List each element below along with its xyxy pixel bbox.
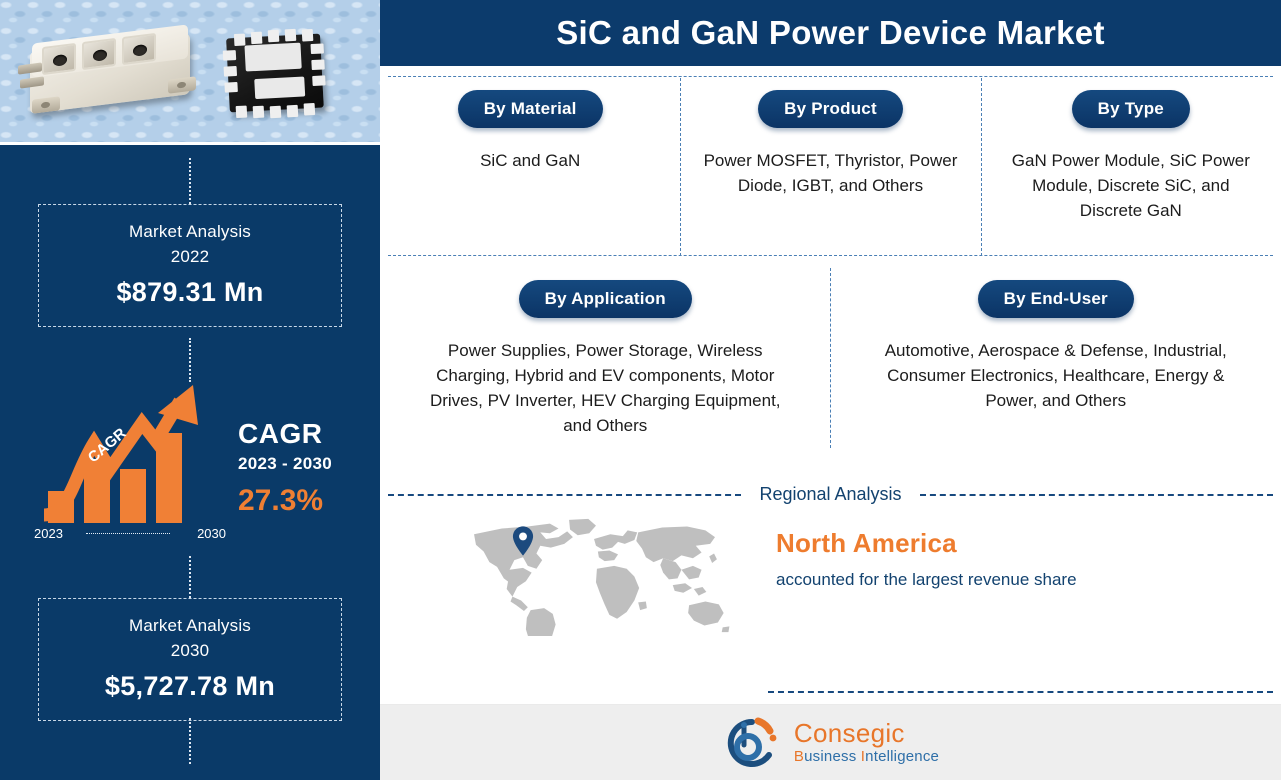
segment-pill-by-application[interactable]: By Application bbox=[519, 280, 692, 318]
stat-label-line1: Market Analysis bbox=[39, 219, 341, 244]
logo-tagline: Business Intelligence bbox=[794, 749, 939, 765]
footer-brand-bar: Consegic Business Intelligence bbox=[380, 704, 1281, 780]
top-region-name: North America bbox=[776, 528, 1077, 559]
cagr-percent: 27.3% bbox=[238, 484, 332, 518]
segment-pill-by-end-user[interactable]: By End-User bbox=[978, 280, 1134, 318]
world-map-svg bbox=[450, 516, 740, 636]
logo-company-name: Consegic bbox=[794, 720, 939, 747]
map-pin-icon bbox=[512, 526, 534, 556]
regional-analysis-section: Regional Analysis bbox=[380, 484, 1281, 704]
divider-line-right bbox=[920, 494, 1273, 496]
logo-text-group: Consegic Business Intelligence bbox=[794, 720, 939, 765]
segment-desc-by-type: GaN Power Module, SiC Power Module, Disc… bbox=[1000, 148, 1261, 223]
connector-dots-bottom bbox=[189, 718, 191, 764]
left-sidebar: Market Analysis 2022 $879.31 Mn CAGR bbox=[0, 0, 380, 780]
infographic-page: Market Analysis 2022 $879.31 Mn CAGR bbox=[0, 0, 1281, 780]
segment-row-2: By Application Power Supplies, Power Sto… bbox=[380, 256, 1281, 448]
top-region-statement: accounted for the largest revenue share bbox=[776, 568, 1077, 592]
page-title: SiC and GaN Power Device Market bbox=[380, 0, 1281, 66]
stat-value: $879.31 Mn bbox=[39, 277, 341, 308]
divider-line-left bbox=[388, 494, 741, 496]
product-photo bbox=[0, 0, 380, 145]
qfn-chip-image bbox=[218, 27, 332, 121]
logo-tag-b: B bbox=[794, 748, 804, 765]
cagr-chart-svg: CAGR bbox=[30, 383, 230, 533]
stat-label-line2: 2022 bbox=[39, 244, 341, 269]
segmentation-area: By Material SiC and GaN By Product Power… bbox=[380, 66, 1281, 484]
stat-label-line1: Market Analysis bbox=[39, 613, 341, 638]
power-module-image bbox=[18, 28, 206, 116]
cagr-axis-end: 2030 bbox=[197, 526, 226, 541]
footer-divider bbox=[768, 691, 1273, 693]
regional-text: North America accounted for the largest … bbox=[776, 516, 1077, 592]
world-map bbox=[450, 516, 740, 636]
segment-desc-by-application: Power Supplies, Power Storage, Wireless … bbox=[428, 338, 783, 438]
cagr-text-group: CAGR 2023 - 2030 27.3% bbox=[238, 418, 332, 518]
logo-tag-ntelligence: ntelligence bbox=[865, 748, 939, 765]
market-analysis-2022-card: Market Analysis 2022 $879.31 Mn bbox=[38, 204, 342, 327]
segment-card-by-application[interactable]: By Application Power Supplies, Power Sto… bbox=[380, 256, 831, 448]
cagr-years: 2023 - 2030 bbox=[238, 454, 332, 474]
cagr-axis-dots bbox=[86, 533, 170, 534]
regional-body: North America accounted for the largest … bbox=[380, 484, 1281, 636]
cagr-axis-start: 2023 bbox=[34, 526, 63, 541]
segment-card-by-type[interactable]: By Type GaN Power Module, SiC Power Modu… bbox=[981, 66, 1281, 256]
segment-card-by-material[interactable]: By Material SiC and GaN bbox=[380, 66, 680, 256]
segment-pill-by-product[interactable]: By Product bbox=[758, 90, 903, 128]
main-panel: SiC and GaN Power Device Market By Mater… bbox=[380, 0, 1281, 780]
segment-desc-by-product: Power MOSFET, Thyristor, Power Diode, IG… bbox=[700, 148, 961, 198]
segment-card-by-product[interactable]: By Product Power MOSFET, Thyristor, Powe… bbox=[680, 66, 980, 256]
connector-dots-lower bbox=[189, 556, 191, 598]
connector-dots-top bbox=[189, 158, 191, 204]
segment-row-1: By Material SiC and GaN By Product Power… bbox=[380, 66, 1281, 256]
regional-divider: Regional Analysis bbox=[388, 484, 1273, 505]
regional-analysis-title: Regional Analysis bbox=[755, 484, 905, 505]
segment-desc-by-end-user: Automotive, Aerospace & Defense, Industr… bbox=[878, 338, 1233, 413]
segment-desc-by-material: SiC and GaN bbox=[480, 148, 580, 173]
stat-value: $5,727.78 Mn bbox=[39, 671, 341, 702]
cagr-block: CAGR 2023 2030 CAGR 2023 - 2030 27.3% bbox=[0, 378, 380, 558]
segment-card-by-end-user[interactable]: By End-User Automotive, Aerospace & Defe… bbox=[831, 256, 1281, 448]
consegic-logo-icon bbox=[722, 714, 780, 770]
cagr-growth-chart: CAGR 2023 2030 bbox=[30, 383, 230, 553]
segment-pill-by-type[interactable]: By Type bbox=[1072, 90, 1190, 128]
logo-tag-usiness: usiness bbox=[804, 748, 861, 765]
market-analysis-2030-card: Market Analysis 2030 $5,727.78 Mn bbox=[38, 598, 342, 721]
cagr-title: CAGR bbox=[238, 418, 332, 450]
connector-dots-mid bbox=[189, 338, 191, 382]
segment-pill-by-material[interactable]: By Material bbox=[458, 90, 603, 128]
stat-label-line2: 2030 bbox=[39, 638, 341, 663]
